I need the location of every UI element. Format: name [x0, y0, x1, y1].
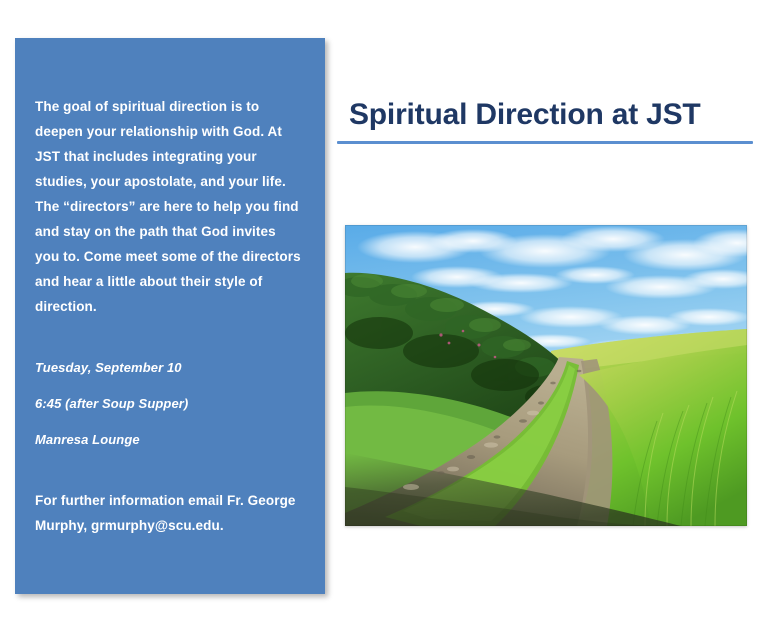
event-date: Tuesday, September 10 — [35, 355, 303, 380]
title-divider-rule — [337, 141, 753, 144]
event-details: Tuesday, September 10 6:45 (after Soup S… — [35, 355, 303, 452]
contact-block: For further information email Fr. George… — [35, 488, 303, 538]
event-time: 6:45 (after Soup Supper) — [35, 391, 303, 416]
info-panel: The goal of spiritual direction is to de… — [15, 38, 325, 594]
intro-paragraph: The goal of spiritual direction is to de… — [35, 94, 303, 319]
contact-text: For further information email Fr. George… — [35, 488, 303, 538]
event-location: Manresa Lounge — [35, 427, 303, 452]
path-photograph — [345, 225, 747, 526]
path-photograph-illustration — [345, 225, 747, 526]
page-title: Spiritual Direction at JST — [337, 98, 753, 132]
title-block: Spiritual Direction at JST — [337, 98, 753, 144]
